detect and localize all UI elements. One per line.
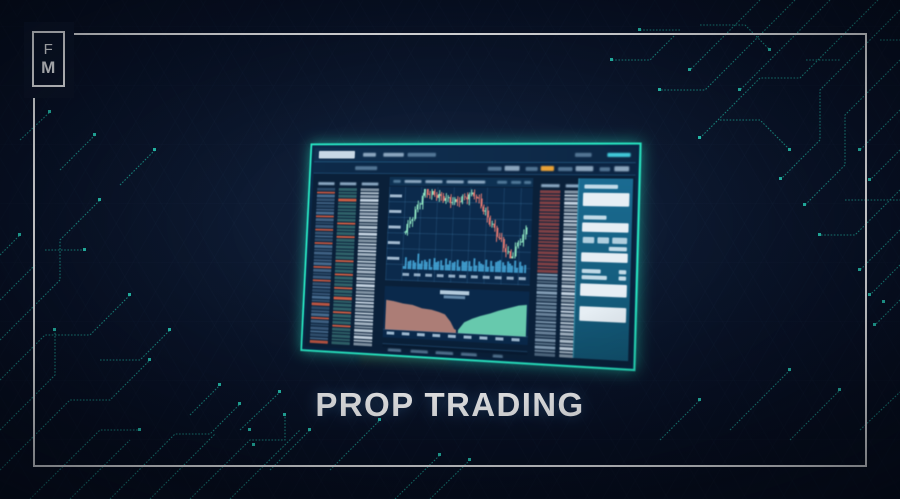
orderbook-row[interactable]	[536, 317, 557, 321]
orderbook-row[interactable]	[353, 343, 372, 347]
panel-label-4	[582, 269, 601, 274]
orderbook-row[interactable]	[313, 282, 331, 285]
orderbook-row[interactable]	[334, 276, 352, 279]
orderbook-row[interactable]	[314, 255, 332, 258]
orderbook-row[interactable]	[358, 240, 377, 243]
orderbook-row[interactable]	[333, 314, 351, 317]
orderbook-row[interactable]	[337, 222, 355, 225]
chart-region	[382, 177, 533, 355]
orderbook-row[interactable]	[335, 256, 353, 259]
ticker-value-4	[614, 166, 629, 171]
panel-value-5	[619, 276, 627, 280]
orderbook-row[interactable]	[361, 189, 380, 192]
orderbook-row[interactable]	[539, 219, 560, 222]
orderbook-row[interactable]	[316, 202, 334, 205]
x-axis-tick	[483, 276, 490, 279]
orderbook-row[interactable]	[316, 208, 334, 211]
page-title: PROP TRADING	[0, 386, 900, 424]
panel-label-3	[609, 247, 627, 252]
orderbook-row[interactable]	[332, 321, 350, 324]
area-chart[interactable]	[383, 286, 530, 345]
orderbook-row[interactable]	[538, 244, 559, 247]
y-tick-5	[387, 257, 399, 260]
bottom-tab-1[interactable]	[388, 348, 401, 353]
chart-ohlc-h	[425, 180, 442, 183]
orderbook-row[interactable]	[310, 340, 328, 343]
orderbook-row[interactable]	[360, 206, 379, 209]
toolbar-label-3	[407, 153, 436, 157]
x-axis-tick	[414, 273, 421, 276]
x-axis-tick	[471, 275, 478, 278]
orderbook-row[interactable]	[540, 198, 561, 201]
orderbook-row[interactable]	[359, 212, 378, 215]
orderbook-row[interactable]	[539, 230, 560, 233]
orderbook-row[interactable]	[311, 306, 329, 309]
chart-tool-1[interactable]	[497, 181, 507, 184]
orderbook-row[interactable]	[317, 188, 335, 191]
terminal-frame	[300, 143, 641, 372]
x-axis-tick	[436, 274, 443, 277]
orderbook-row[interactable]	[538, 241, 559, 244]
orderbook-row[interactable]	[354, 322, 373, 325]
orderbook-row[interactable]	[331, 341, 349, 345]
chart-ohlc-o	[404, 180, 421, 183]
bottom-tab-3[interactable]	[435, 351, 453, 356]
orderbook-column-header	[340, 182, 357, 185]
orderbook-row[interactable]	[339, 192, 357, 195]
orderbook-row[interactable]	[538, 251, 559, 254]
terminal-screen	[305, 148, 636, 366]
orderbook-row[interactable]	[539, 216, 560, 219]
orderbook-row[interactable]	[337, 229, 355, 232]
chart-ohlc-l	[446, 180, 464, 183]
orderbook-row[interactable]	[333, 307, 351, 310]
orderbook-row[interactable]	[360, 199, 379, 202]
orderbook-row[interactable]	[335, 270, 353, 273]
volume-series	[403, 253, 527, 273]
orderbook-row[interactable]	[538, 237, 559, 240]
ticker-label-3	[558, 167, 573, 171]
y-tick-4	[388, 241, 400, 244]
orderbook-row[interactable]	[357, 257, 376, 260]
orderbook-row[interactable]	[534, 353, 555, 357]
toolbar-label-2	[383, 153, 404, 157]
panel-label-2	[583, 215, 606, 220]
logo-letter-m: M	[41, 59, 56, 76]
ticker-label-4	[599, 167, 610, 171]
x-axis-tick	[459, 275, 466, 278]
orderbook-row[interactable]	[535, 324, 556, 328]
orderbook-row[interactable]	[338, 202, 356, 205]
orderbook-row[interactable]	[537, 270, 558, 273]
orderbook-row[interactable]	[358, 246, 377, 249]
chart-bottom-panel	[382, 343, 527, 355]
orderbook-column-header	[318, 182, 334, 185]
terminal-toolbar	[314, 148, 636, 164]
orderbook-row[interactable]	[357, 264, 376, 267]
orderbook-row[interactable]	[355, 315, 374, 318]
orderbook-row[interactable]	[315, 232, 333, 235]
orderbook-row[interactable]	[360, 195, 379, 198]
bottom-tab-2[interactable]	[410, 350, 427, 355]
orderbook-row[interactable]	[335, 263, 353, 266]
ticker-label-2	[526, 167, 538, 171]
orderbook-row[interactable]	[334, 283, 352, 286]
bottom-tab-5[interactable]	[493, 354, 503, 359]
terminal-search-input[interactable]	[319, 151, 355, 159]
orderbook-row[interactable]	[317, 191, 335, 194]
orderbook-row[interactable]	[315, 238, 333, 241]
ticker-group-label	[355, 166, 377, 170]
orderbook-row[interactable]	[313, 276, 331, 279]
orderbook-row[interactable]	[356, 277, 375, 280]
orderbook-row[interactable]	[311, 313, 329, 316]
panel-button-1[interactable]	[583, 237, 595, 243]
x-axis-tick	[425, 274, 432, 277]
orderbook-row[interactable]	[540, 194, 561, 197]
orderbook-row[interactable]	[359, 229, 378, 232]
orderbook-row[interactable]	[540, 201, 561, 204]
ticker-label-1	[488, 167, 502, 171]
logo-letter-f: F	[44, 42, 54, 57]
orderbook-row[interactable]	[360, 209, 379, 212]
orderbook-row[interactable]	[359, 223, 378, 226]
orderbook-row[interactable]	[535, 331, 556, 335]
orderbook-row[interactable]	[338, 209, 356, 212]
x-axis-ticks	[402, 273, 526, 281]
orderbook-row[interactable]	[540, 191, 561, 194]
panel-value-4	[619, 270, 627, 274]
orderbook-row[interactable]	[314, 245, 332, 248]
orderbook-row[interactable]	[536, 291, 557, 294]
orderbook-row[interactable]	[337, 232, 355, 235]
terminal-ticker-bar	[314, 162, 636, 175]
orderbook-row[interactable]	[336, 239, 354, 242]
orderbook-row[interactable]	[359, 219, 378, 222]
orderbook-row[interactable]	[311, 320, 329, 323]
x-axis-tick	[507, 277, 514, 280]
orderbook-row[interactable]	[539, 212, 560, 215]
order-entry-panel[interactable]	[573, 178, 633, 361]
orderbook-row[interactable]	[537, 284, 558, 287]
orderbook-row[interactable]	[316, 212, 334, 215]
orderbook-row[interactable]	[358, 233, 377, 236]
x-axis-tick	[448, 274, 455, 277]
orderbook-row[interactable]	[339, 188, 357, 191]
panel-button-2[interactable]	[597, 237, 609, 244]
orderbook-row[interactable]	[316, 205, 334, 208]
orderbook-row[interactable]	[537, 262, 558, 265]
orderbook-row[interactable]	[360, 202, 379, 205]
orderbook-row[interactable]	[316, 215, 334, 218]
orderbook-row[interactable]	[359, 216, 378, 219]
panel-field-1[interactable]	[583, 193, 630, 207]
orderbook-column-header	[362, 182, 379, 185]
orderbook-row[interactable]	[316, 218, 334, 221]
orderbook-row[interactable]	[337, 215, 355, 218]
panel-field-2[interactable]	[582, 222, 629, 232]
panel-button-3[interactable]	[612, 238, 627, 245]
x-axis-tick	[519, 277, 526, 280]
orderbook-row[interactable]	[539, 223, 560, 226]
orderbook-row[interactable]	[313, 269, 331, 272]
orderbook-row[interactable]	[360, 192, 379, 195]
toolbar-label-4	[575, 153, 592, 157]
orderbook-row[interactable]	[338, 198, 356, 201]
panel-label-5	[582, 275, 607, 280]
orderbook-row[interactable]	[336, 246, 354, 249]
panel-title	[584, 184, 618, 188]
panel-field-3[interactable]	[581, 252, 628, 263]
y-tick-1	[390, 194, 402, 197]
y-tick-3	[388, 225, 400, 228]
orderbook-row[interactable]	[317, 195, 335, 198]
chart-tool-3[interactable]	[524, 181, 531, 184]
orderbook-row[interactable]	[359, 226, 378, 229]
orderbook-row[interactable]	[315, 222, 333, 225]
x-axis-tick	[402, 273, 409, 276]
y-tick-2	[389, 210, 401, 213]
orderbook-row[interactable]	[539, 226, 560, 229]
toolbar-label-1	[363, 153, 376, 157]
orderbook-row[interactable]	[314, 262, 332, 265]
bottom-tab-4[interactable]	[461, 353, 477, 358]
orderbook-row[interactable]	[338, 212, 356, 215]
chart-tool-2[interactable]	[511, 181, 521, 184]
candle-series	[403, 189, 529, 259]
area-chart-svg	[383, 286, 530, 345]
panel-field-4[interactable]	[580, 283, 627, 297]
orderbook-row[interactable]	[357, 270, 376, 273]
x-axis-tick	[495, 276, 502, 279]
orderbook-row[interactable]	[337, 225, 355, 228]
orderbook-row[interactable]	[337, 219, 355, 222]
toolbar-account-chip[interactable]	[607, 153, 630, 157]
ticker-value-2	[541, 166, 554, 171]
orderbook-row[interactable]	[317, 198, 335, 201]
ticker-value-3	[576, 166, 594, 171]
panel-field-5[interactable]	[579, 306, 626, 323]
ticker-value-1	[505, 166, 520, 171]
fm-logo[interactable]: F M	[32, 31, 65, 87]
orderbook-row[interactable]	[315, 225, 333, 228]
orderbook-row[interactable]	[356, 284, 375, 287]
chart-ohlc-c	[468, 180, 486, 183]
orderbook-row[interactable]	[338, 195, 356, 198]
trading-terminal-image	[300, 143, 641, 372]
chart-header	[389, 177, 533, 187]
chart-symbol	[393, 180, 401, 183]
promo-banner: F M	[0, 0, 900, 499]
orderbook-row[interactable]	[538, 234, 559, 237]
orderbook-column-header	[541, 184, 560, 188]
candlestick-chart[interactable]	[385, 187, 533, 286]
orderbook-row[interactable]	[338, 205, 356, 208]
orderbook-column[interactable]	[533, 178, 562, 357]
orderbook-row[interactable]	[315, 228, 333, 231]
volume-bar	[524, 265, 526, 273]
orderbook-row[interactable]	[537, 277, 558, 280]
orderbook-row[interactable]	[539, 208, 560, 211]
orderbook-row[interactable]	[358, 236, 377, 239]
orderbook-left[interactable]	[309, 176, 381, 346]
orderbook-row[interactable]	[539, 205, 560, 208]
orderbook-row[interactable]	[355, 308, 374, 311]
orderbook-row[interactable]	[538, 248, 559, 251]
